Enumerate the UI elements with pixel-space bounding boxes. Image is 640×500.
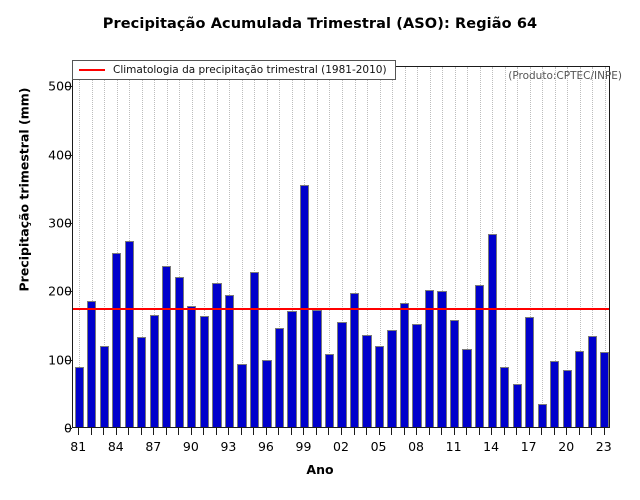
x-axis-tick-mark	[566, 428, 567, 435]
x-axis-tick-mark	[579, 428, 580, 435]
x-axis-tick-mark	[391, 428, 392, 435]
x-axis-tick-mark	[241, 428, 242, 435]
x-axis-tick-mark	[153, 428, 154, 435]
x-axis-tick-label: 23	[596, 439, 612, 454]
x-axis-tick-mark	[128, 428, 129, 435]
x-axis-tick-mark	[404, 428, 405, 435]
x-axis-tick-mark	[554, 428, 555, 435]
x-axis-tick-mark	[228, 428, 229, 435]
x-axis-tick-label: 81	[70, 439, 86, 454]
y-axis-title: Precipitação trimestral (mm)	[17, 30, 32, 350]
x-axis-tick-mark	[379, 428, 380, 435]
x-axis-tick-mark	[191, 428, 192, 435]
x-axis-tick-label: 14	[483, 439, 499, 454]
x-axis-tick-label: 96	[258, 439, 274, 454]
x-axis-tick-mark	[278, 428, 279, 435]
x-axis-tick-mark	[466, 428, 467, 435]
x-axis-tick-mark	[491, 428, 492, 435]
x-axis-tick-label: 99	[296, 439, 312, 454]
x-axis-tick-mark	[316, 428, 317, 435]
chart-canvas: Precipitação Acumulada Trimestral (ASO):…	[0, 0, 640, 500]
x-axis-tick-label: 17	[521, 439, 537, 454]
x-axis-tick-mark	[116, 428, 117, 435]
x-axis-tick-label: 93	[220, 439, 236, 454]
x-axis-tick-mark	[604, 428, 605, 435]
x-axis-tick-mark	[166, 428, 167, 435]
x-axis-tick-mark	[454, 428, 455, 435]
x-axis-tick-mark	[141, 428, 142, 435]
x-axis-tick-mark	[253, 428, 254, 435]
x-axis-tick-mark	[479, 428, 480, 435]
climatology-line-layer	[73, 67, 609, 427]
x-axis-tick-mark	[103, 428, 104, 435]
legend-climatology-label: Climatologia da precipitação trimestral …	[113, 64, 387, 76]
x-axis-tick-mark	[529, 428, 530, 435]
x-axis-tick-label: 02	[333, 439, 349, 454]
producer-credit: (Produto:CPTEC/INPE)	[508, 70, 622, 82]
x-axis-tick-mark	[429, 428, 430, 435]
x-axis-tick-mark	[216, 428, 217, 435]
x-axis-tick-mark	[78, 428, 79, 435]
x-axis-tick-mark	[354, 428, 355, 435]
x-axis-tick-label: 05	[371, 439, 387, 454]
legend-climatology-swatch-icon	[79, 69, 105, 71]
x-axis-tick-label: 87	[145, 439, 161, 454]
chart-title: Precipitação Acumulada Trimestral (ASO):…	[0, 16, 640, 32]
x-axis-tick-mark	[266, 428, 267, 435]
x-axis-tick-mark	[541, 428, 542, 435]
x-axis-tick-mark	[441, 428, 442, 435]
x-axis-tick-mark	[504, 428, 505, 435]
x-axis-tick-mark	[366, 428, 367, 435]
x-axis-tick-mark	[416, 428, 417, 435]
x-axis-tick-label: 20	[558, 439, 574, 454]
x-axis-tick-mark	[341, 428, 342, 435]
x-axis-tick-mark	[203, 428, 204, 435]
x-axis-tick-label: 90	[183, 439, 199, 454]
x-axis-tick-label: 84	[108, 439, 124, 454]
x-axis-tick-label: 08	[408, 439, 424, 454]
x-axis-tick-mark	[91, 428, 92, 435]
x-axis-tick-mark	[328, 428, 329, 435]
x-axis-tick-mark	[178, 428, 179, 435]
x-axis-tick-mark	[303, 428, 304, 435]
legend: Climatologia da precipitação trimestral …	[72, 60, 396, 80]
x-axis-title: Ano	[0, 462, 640, 477]
x-axis-tick-mark	[291, 428, 292, 435]
climatology-line	[73, 308, 609, 310]
plot-area	[72, 66, 610, 428]
x-axis-tick-label: 11	[446, 439, 462, 454]
x-axis-tick-mark	[516, 428, 517, 435]
x-axis-tick-mark	[591, 428, 592, 435]
